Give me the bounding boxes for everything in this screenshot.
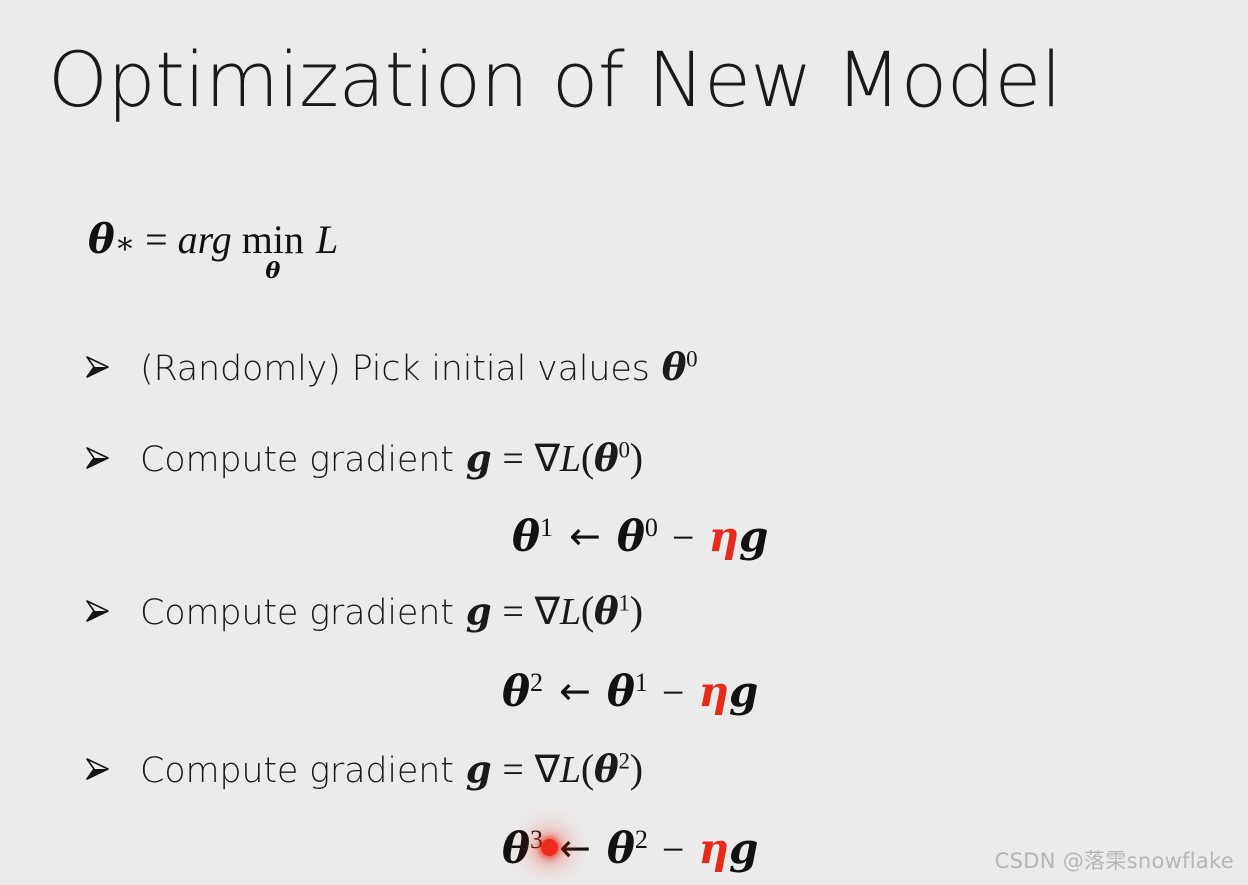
bullet-3-grad-var: g [466, 589, 492, 633]
objective-theta: θ [88, 216, 115, 263]
bullet-4-close-paren: ) [630, 745, 643, 792]
update-equation-1: θ1 ← θ0 − ηg [512, 512, 768, 561]
update-3-minus: − [662, 826, 685, 873]
update-1-rhs-sup: 0 [645, 513, 658, 542]
update-2-rhs-glyph: θ [607, 667, 635, 716]
bullet-4-nabla: ∇ [535, 747, 560, 792]
bullet-item-initial-values: (Randomly) Pick initial values θ0 [82, 345, 697, 389]
bullet-4-label: Compute gradient [140, 751, 454, 791]
objective-min-subscript: θ [265, 260, 280, 282]
update-2-rhs-sup: 1 [635, 668, 648, 697]
update-1-grad: g [739, 512, 768, 561]
update-3-arrow: ← [559, 826, 591, 870]
arrow-bullet-icon [82, 352, 140, 382]
update-2-eta: η [698, 667, 729, 716]
update-2-minus: − [662, 669, 685, 716]
bullet-3-loss: L [560, 590, 581, 634]
update-3-grad: g [729, 824, 758, 873]
bullet-item-compute-gradient-1: Compute gradient g = ∇L(θ1) [82, 587, 643, 634]
update-1-eta: η [708, 512, 739, 561]
bullet-4-loss: L [560, 748, 581, 792]
bullet-3-theta: θ1 [594, 589, 630, 633]
update-3-rhs: θ2 [607, 824, 648, 873]
update-1-lhs-sup: 1 [540, 513, 553, 542]
bullet-3-content: Compute gradient g = ∇L(θ1) [140, 587, 643, 634]
bullet-item-compute-gradient-2: Compute gradient g = ∇L(θ2) [82, 745, 643, 792]
bullet-2-content: Compute gradient g = ∇L(θ0) [140, 434, 643, 481]
bullet-4-equals: = [502, 748, 523, 792]
bullet-3-equals: = [502, 590, 523, 634]
update-2-grad: g [729, 667, 758, 716]
bullet-1-theta-sup: 0 [686, 347, 697, 372]
objective-equals: = [145, 216, 168, 263]
bullet-2-close-paren: ) [630, 434, 643, 481]
objective-formula: θ∗ = arg min θ L [88, 216, 338, 282]
bullet-2-label: Compute gradient [140, 440, 454, 480]
update-1-lhs: θ1 [512, 512, 553, 561]
bullet-4-grad-var: g [466, 747, 492, 791]
bullet-2-loss: L [560, 437, 581, 481]
objective-arg: arg [178, 216, 232, 263]
page-title: Optimization of New Model [48, 42, 1061, 118]
bullet-2-nabla: ∇ [535, 436, 560, 481]
update-3-rhs-glyph: θ [607, 824, 635, 873]
bullet-1-label: (Randomly) Pick initial values [140, 349, 650, 389]
bullet-2-grad-var: g [466, 436, 492, 480]
arrow-bullet-icon [82, 596, 140, 626]
update-2-lhs-sup: 2 [530, 668, 543, 697]
update-equation-3: θ3 ← θ2 − ηg [502, 824, 758, 873]
bullet-3-theta-sup: 1 [618, 591, 629, 616]
update-2-arrow: ← [559, 669, 591, 713]
update-3-eta: η [698, 824, 729, 873]
bullet-3-label: Compute gradient [140, 593, 454, 633]
update-1-rhs-glyph: θ [617, 512, 645, 561]
bullet-3-close-paren: ) [630, 587, 643, 634]
update-1-minus: − [672, 514, 695, 561]
bullet-3-nabla: ∇ [535, 589, 560, 634]
update-2-lhs-glyph: θ [502, 667, 530, 716]
update-3-lhs-sup: 3 [530, 825, 543, 854]
update-equation-2: θ2 ← θ1 − ηg [502, 667, 758, 716]
update-1-arrow: ← [569, 514, 601, 558]
bullet-3-open-paren: ( [581, 587, 594, 634]
bullet-item-compute-gradient-0: Compute gradient g = ∇L(θ0) [82, 434, 643, 481]
update-3-lhs-glyph: θ [502, 824, 530, 873]
bullet-4-theta-glyph: θ [594, 747, 618, 791]
update-2-rhs: θ1 [607, 667, 648, 716]
bullet-4-theta: θ2 [594, 747, 630, 791]
slide-canvas: Optimization of New Model θ∗ = arg min θ… [0, 0, 1248, 885]
arrow-bullet-icon [82, 443, 140, 473]
watermark: CSDN @落雬snowflake [995, 845, 1234, 875]
objective-min-stack: min θ [242, 221, 304, 282]
objective-loss: L [316, 216, 338, 263]
update-3-lhs: θ3 [502, 824, 543, 873]
update-1-lhs-glyph: θ [512, 512, 540, 561]
bullet-2-equals: = [502, 437, 523, 481]
bullet-4-theta-sup: 2 [618, 749, 629, 774]
update-1-rhs: θ0 [617, 512, 658, 561]
bullet-2-theta-glyph: θ [594, 436, 618, 480]
update-3-rhs-sup: 2 [635, 825, 648, 854]
bullet-2-theta-sup: 0 [618, 438, 629, 463]
bullet-2-open-paren: ( [581, 434, 594, 481]
bullet-2-theta: θ0 [594, 436, 630, 480]
objective-min: min [242, 221, 304, 259]
arrow-bullet-icon [82, 754, 140, 784]
bullet-1-content: (Randomly) Pick initial values θ0 [140, 345, 697, 389]
bullet-4-content: Compute gradient g = ∇L(θ2) [140, 745, 643, 792]
bullet-1-theta: θ0 [662, 345, 698, 389]
bullet-1-theta-glyph: θ [662, 345, 686, 389]
bullet-4-open-paren: ( [581, 745, 594, 792]
bullet-3-theta-glyph: θ [594, 589, 618, 633]
update-2-lhs: θ2 [502, 667, 543, 716]
